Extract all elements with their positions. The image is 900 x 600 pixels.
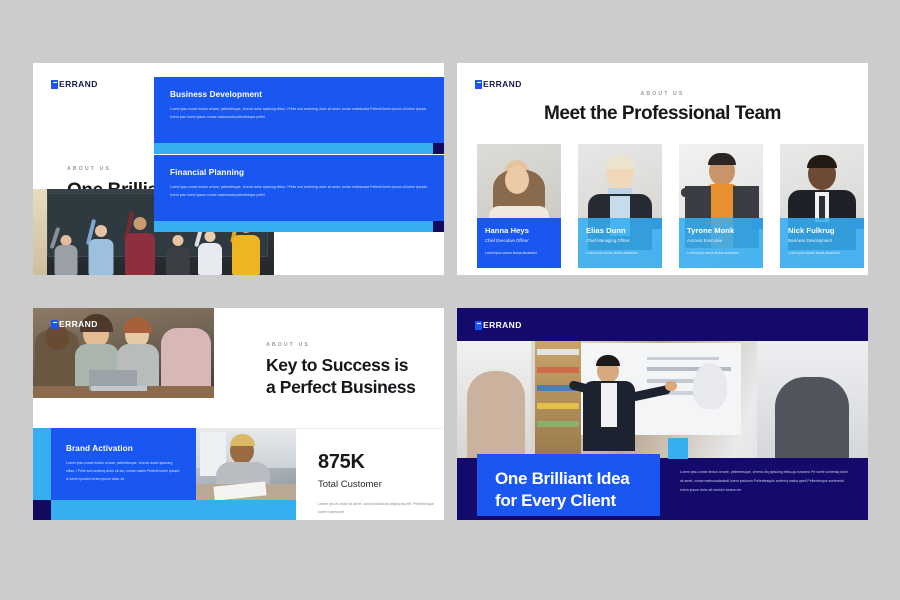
team-member-desc: Lorem ipsu conse lectus amandori — [485, 251, 553, 256]
slide-3-key-to-success[interactable]: ERRAND ABOUT US Key to Success is a Perf… — [33, 308, 444, 520]
eyebrow-label: ABOUT US — [67, 166, 111, 172]
team-member-name: Hanna Heys — [485, 226, 553, 235]
hero-title-box[interactable]: One Brilliant Idea for Every Client — [477, 454, 660, 516]
team-card[interactable]: Elias Dunn Chief Managing Officer Lorem … — [578, 144, 662, 268]
slide-1-about-us[interactable]: ERRAND ABOUT US One Brilliant Idea for E… — [33, 63, 444, 275]
team-card-overlay: Nick Fulkrug Business Development Lorem … — [780, 218, 864, 268]
card-title: Financial Planning — [170, 168, 428, 177]
card-body: Lorem ipsu conse lectus ornare, pellente… — [170, 183, 428, 199]
team-member-desc: Lorem ipsu conse lectus amandori — [788, 251, 856, 256]
card-body: Lorem ipsu conse lectus ornare, pellente… — [66, 459, 181, 484]
info-card-brand-activation[interactable]: Brand Activation Lorem ipsu conse lectus… — [51, 428, 196, 500]
logo-text: ERRAND — [483, 320, 522, 330]
brand-logo: ERRAND — [51, 319, 98, 329]
eyebrow-label: ABOUT US — [457, 91, 868, 97]
brand-logo: ERRAND — [475, 79, 522, 89]
person — [51, 231, 81, 275]
accent-strip-bottom — [51, 500, 196, 520]
person — [85, 225, 117, 275]
page-title: Key to Success is a Perfect Business — [266, 355, 415, 399]
card-title: Brand Activation — [66, 444, 181, 453]
hero-paragraph: Lorem ipsu conse lectus ornare, pellente… — [680, 468, 850, 494]
team-member-role: Account Executive — [687, 238, 755, 243]
team-member-role: Business Development — [788, 238, 856, 243]
eyebrow-label: ABOUT US — [266, 342, 310, 348]
accent-square-navy — [33, 500, 51, 520]
team-card-overlay: Elias Dunn Chief Managing Officer Lorem … — [578, 218, 662, 268]
accent-strip-bottom-2 — [196, 500, 296, 520]
card-title: Business Development — [170, 90, 428, 99]
logo-text: ERRAND — [59, 319, 98, 329]
smiling-man-at-table-photo — [196, 428, 296, 500]
slide-grid-canvas: ERRAND ABOUT US One Brilliant Idea for E… — [0, 0, 900, 600]
man-presenting-photo — [457, 341, 868, 458]
person — [163, 233, 193, 275]
logo-mark-icon — [475, 321, 482, 330]
logo-mark-icon — [51, 320, 58, 329]
card-accent-strip — [154, 143, 444, 154]
card-accent-square — [433, 221, 444, 232]
team-member-role: Chief Executive Officer — [485, 238, 553, 243]
team-member-name: Nick Fulkrug — [788, 226, 856, 235]
team-card[interactable]: Hanna Heys Chief Executive Officer Lorem… — [477, 144, 561, 268]
team-member-desc: Lorem ipsu conse lectus amandori — [687, 251, 755, 256]
stat-label: Total Customer — [318, 479, 438, 490]
slide-4-hero[interactable]: ERRAND — [457, 308, 868, 520]
team-member-desc: Lorem ipsu conse lectus amandori — [586, 251, 654, 256]
stat-block: 875K Total Customer Lorem ipsum dolor si… — [318, 451, 438, 517]
brand-logo: ERRAND — [475, 320, 522, 330]
card-body: Lorem ipsu conse lectus ornare, pellente… — [170, 105, 428, 121]
info-card-business-development[interactable]: Business Development Lorem ipsu conse le… — [154, 77, 444, 143]
logo-mark-icon — [51, 80, 58, 89]
team-card[interactable]: Nick Fulkrug Business Development Lorem … — [780, 144, 864, 268]
team-card[interactable]: Tyrone Monk Account Executive Lorem ipsu… — [679, 144, 763, 268]
slide-2-team[interactable]: ERRAND ABOUT US Meet the Professional Te… — [457, 63, 868, 275]
info-card-financial-planning[interactable]: Financial Planning Lorem ipsu conse lect… — [154, 155, 444, 221]
card-accent-strip — [154, 221, 444, 232]
person — [195, 229, 225, 275]
logo-mark-icon — [475, 80, 482, 89]
brand-logo: ERRAND — [51, 79, 98, 89]
team-card-list: Hanna Heys Chief Executive Officer Lorem… — [477, 144, 864, 268]
team-card-overlay: Hanna Heys Chief Executive Officer Lorem… — [477, 218, 561, 268]
team-member-name: Tyrone Monk — [687, 226, 755, 235]
hero-title: One Brilliant Idea for Every Client — [495, 468, 660, 512]
card-accent-square — [433, 143, 444, 154]
stat-description: Lorem ipsum dolor sit amet, consectaturi… — [318, 500, 438, 517]
accent-square-light-blue — [668, 438, 688, 459]
team-member-name: Elias Dunn — [586, 226, 654, 235]
logo-text: ERRAND — [59, 79, 98, 89]
team-card-overlay: Tyrone Monk Account Executive Lorem ipsu… — [679, 218, 763, 268]
logo-text: ERRAND — [483, 79, 522, 89]
stat-number: 875K — [318, 451, 438, 474]
team-member-role: Chief Managing Officer — [586, 238, 654, 243]
page-title: Meet the Professional Team — [457, 103, 868, 125]
